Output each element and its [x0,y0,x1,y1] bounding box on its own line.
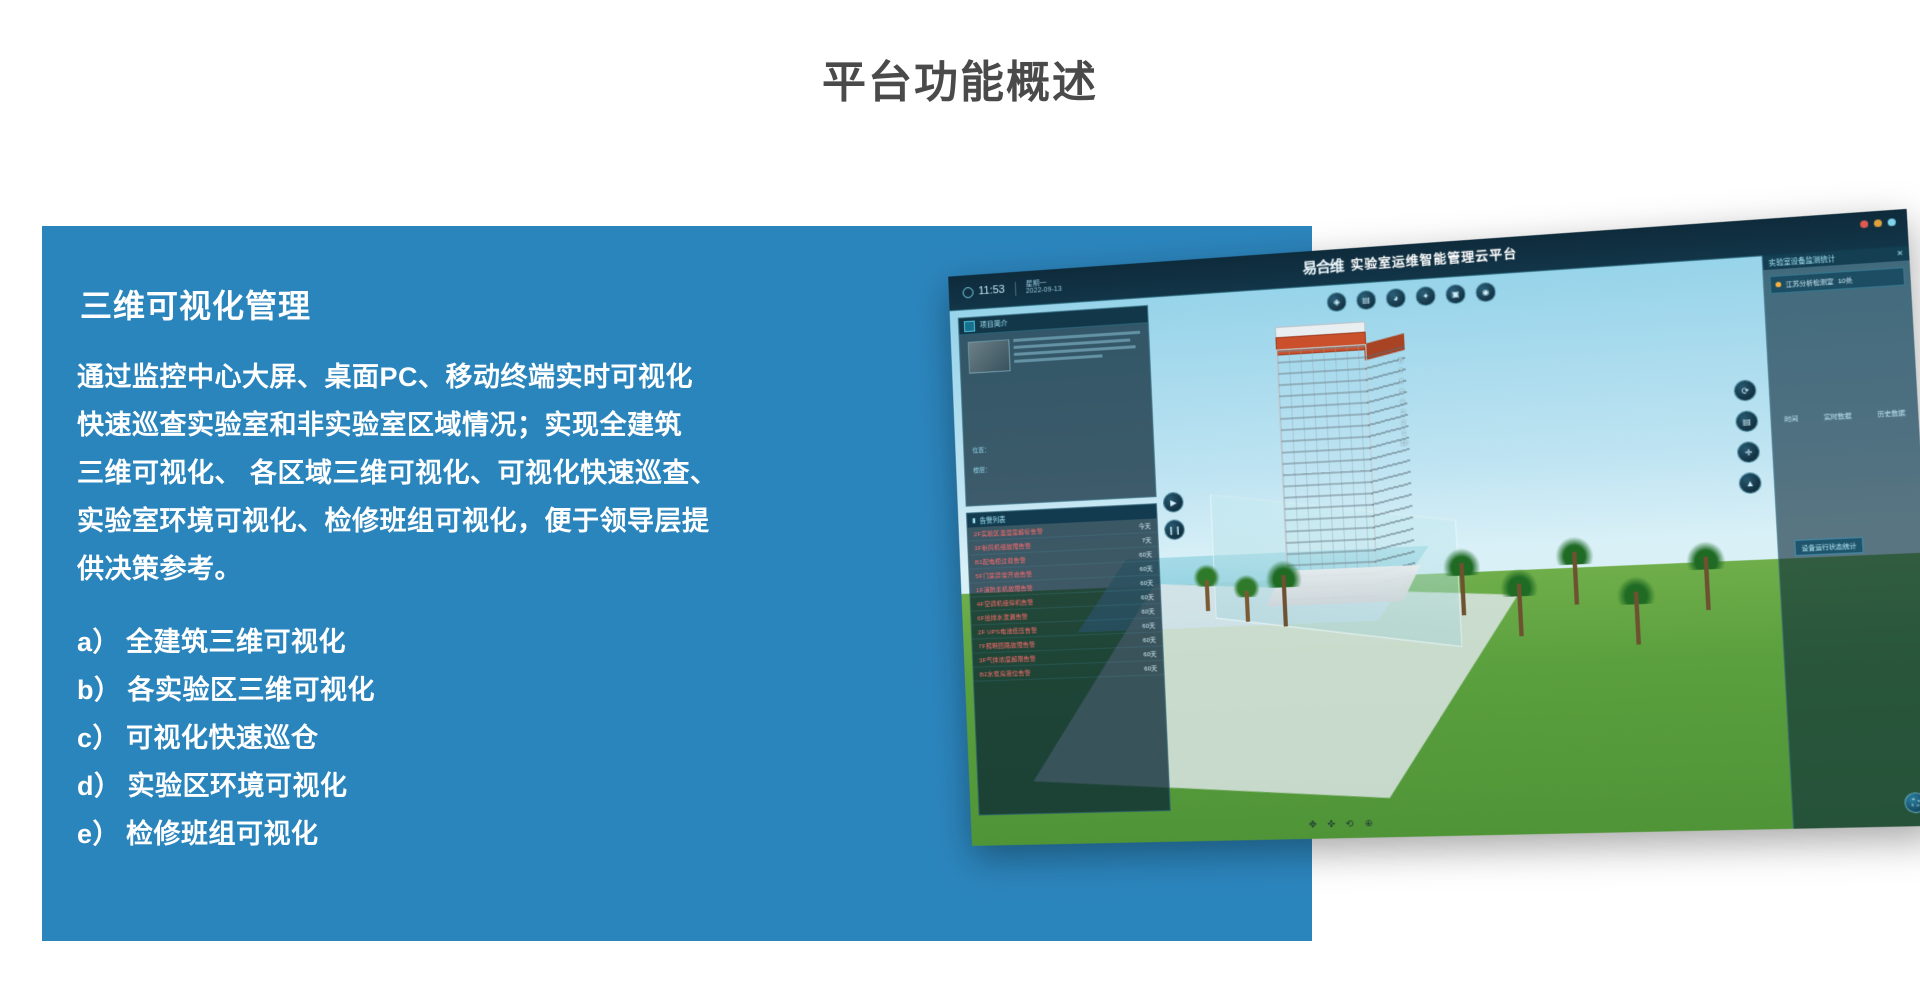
alarm-day: 7天 [1142,535,1152,545]
alarm-day: 今天 [1138,521,1151,531]
alarm-icon: ▮ [972,516,976,524]
palm-tree [1442,548,1482,616]
play-icon[interactable]: ▶ [1163,492,1184,513]
list-icon[interactable]: ▤ [1356,290,1377,311]
list-item-label: 全建筑三维可视化 [126,627,346,657]
compass-icon[interactable]: ✥ [1309,819,1317,831]
tree [1193,563,1222,611]
tab-history[interactable]: 历史数据 [1877,407,1905,418]
view-controls[interactable]: ✥ ✜ ⟲ ⊕ [1309,818,1373,831]
list-item-marker: b） [77,675,122,705]
palm-tree [1555,536,1596,605]
move-icon[interactable]: ✜ [1327,819,1336,831]
floor-label[interactable]: 6 [1400,379,1404,385]
close-icon[interactable]: ✕ [1896,249,1903,258]
right-panel-title: 实验室设备监测统计 [1768,252,1835,267]
tab-time[interactable]: 时间 [1784,413,1798,423]
list-item-marker: c） [77,723,120,753]
list-item: a）全建筑三维可视化 [77,618,837,666]
list-item-label: 各实验区三维可视化 [128,675,376,705]
alarm-text: 3F新风机组故障告警 [974,541,1031,553]
alarm-text: 2F实验区温湿度超标告警 [974,526,1044,538]
clock-icon [962,286,973,298]
alarm-text: 1F消防主机故障告警 [976,583,1033,594]
alarm-day: 60天 [1139,563,1152,573]
alarm-day: 60天 [1142,620,1155,630]
alarm-text: B1配电柜过载告警 [975,555,1026,566]
alarm-text: B2水泵房液位告警 [979,668,1030,679]
alarm-text: 6F给排水泄漏告警 [977,611,1028,622]
lab-chip-value: 10处 [1838,275,1853,286]
alarm-day: 60天 [1141,606,1154,616]
card-title: 项目简介 [980,318,1008,330]
clock-time: 11:53 [978,284,1005,298]
list-item: d）实验区环境可视化 [77,762,837,810]
date-label: 2022-09-13 [1026,286,1062,296]
palm-tree [1616,576,1657,645]
monitor-icon[interactable]: ▣ [1445,284,1466,305]
panel-icon [964,320,975,332]
maximize-button[interactable] [1874,219,1882,227]
playback-controls[interactable]: ▶ ❙❙ [1163,492,1186,541]
palm-tree [1265,560,1304,627]
floor-field-label: 楼层： [973,464,991,474]
floor-label[interactable]: 1F [1401,441,1409,448]
tab-realtime[interactable]: 实时数据 [1824,410,1852,421]
alarm-text: 2F UPS电池低压告警 [978,625,1038,636]
list-item-marker: d） [77,771,122,801]
alert-icon[interactable]: ◉ [1475,282,1496,303]
alarm-list-panel[interactable]: ▮ 告警列表 2F实验区温湿度超标告警今天 3F新风机组故障告警7天 B1配电柜… [966,503,1171,815]
clock-icon[interactable]: ◕ [1385,288,1406,309]
list-item-label: 检修班组可视化 [126,819,319,849]
right-panel-tabs[interactable]: 时间 实时数据 历史数据 [1771,407,1918,425]
alarm-day: 60天 [1143,649,1156,659]
rotate-icon[interactable]: ⟲ [1346,818,1355,830]
palm-tree [1686,541,1728,611]
location-icon[interactable]: ✛ [1737,441,1761,463]
alarm-day: 60天 [1139,549,1152,559]
app-clock: 11:53 [962,284,1005,299]
minimize-button[interactable] [1860,220,1868,228]
location-field-label: 位置： [972,444,990,454]
alarm-day: 60天 [1144,663,1157,673]
alarm-day: 60天 [1140,578,1153,588]
project-description [1013,331,1141,367]
status-badge: 设备运行状态统计 [1794,537,1864,556]
list-item-marker: e） [77,819,120,849]
platform-screenshot: 11:53 星期一 2022-09-13 易合维 实验室运维智能管理云平台 ◈ … [948,209,1920,846]
project-thumbnail [968,339,1011,373]
alarm-text: 3F气体浓度超限告警 [979,653,1036,664]
floor-label[interactable]: 3 [1401,410,1405,416]
layers-icon[interactable]: ▤ [1735,410,1759,432]
list-item: b）各实验区三维可视化 [77,666,837,714]
floor-label[interactable]: 8 [1399,358,1403,364]
floor-label[interactable]: 4 [1401,400,1405,406]
lab-chip-label: 江苏分析检测室 [1785,276,1833,289]
brand-logo: 易合维 [1302,255,1344,278]
project-info-card: 项目简介 位置： 楼层： [958,305,1157,507]
list-item-label: 可视化快速巡仓 [126,723,319,753]
list-item: e）检修班组可视化 [77,810,837,858]
floor-label[interactable]: 2 [1402,420,1406,426]
person-icon[interactable]: ✦ [1415,286,1436,307]
floor-label[interactable]: 1 [1402,431,1406,437]
list-item-marker: a） [77,627,120,657]
floor-label[interactable]: 7 [1399,369,1403,375]
alert-icon[interactable]: ▲ [1738,472,1762,494]
alarm-text: 5F门禁异常开启告警 [975,569,1032,581]
alarm-text: 7F照明回路故障告警 [978,639,1035,650]
alarm-list-title: 告警列表 [980,514,1006,525]
close-button[interactable] [1887,218,1895,226]
app-title-wrap: 易合维 实验室运维智能管理云平台 [1302,243,1518,278]
window-controls[interactable] [1860,218,1896,228]
list-item-label: 实验区环境可视化 [128,771,348,801]
palm-tree [1500,568,1540,637]
lab-chip[interactable]: 江苏分析检测室 10处 [1769,267,1905,294]
panel-description: 通过监控中心大屏、桌面PC、移动终端实时可视化 快速巡查实验室和非实验室区域情况… [77,353,997,593]
alarm-text: 4F空调机组停机告警 [977,597,1034,608]
panel-heading: 三维可视化管理 [80,281,311,327]
pause-icon[interactable]: ❙❙ [1164,519,1185,540]
building-icon[interactable]: ◈ [1326,292,1347,313]
reset-view-icon[interactable]: ⟳ [1733,379,1757,402]
zoom-icon[interactable]: ⊕ [1364,818,1373,830]
tree [1232,574,1261,622]
alarm-day: 60天 [1141,592,1154,602]
app-title: 实验室运维智能管理云平台 [1350,244,1517,273]
status-badge [1775,282,1781,288]
feature-list: a）全建筑三维可视化 b）各实验区三维可视化 c）可视化快速巡仓 d）实验区环境… [77,618,837,858]
floor-label[interactable]: 5 [1400,389,1404,395]
alarm-day: 60天 [1143,635,1156,645]
list-item: c）可视化快速巡仓 [77,714,837,762]
app-date: 星期一 2022-09-13 [1014,278,1061,296]
page-title: 平台功能概述 [0,46,1920,110]
